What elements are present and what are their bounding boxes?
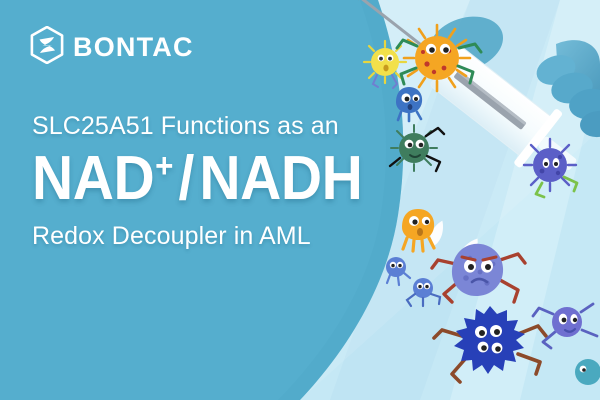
hero-title-line: SLC25A51 Functions as an: [32, 112, 362, 141]
hero-subtitle: Redox Decoupler in AML: [32, 222, 362, 251]
brand-logo[interactable]: BONTAC: [30, 26, 194, 69]
hero-headline: NAD+/NADH: [32, 147, 336, 210]
headline-nad-plus: NAD: [32, 144, 154, 213]
germ-purple-spiky: [524, 139, 577, 197]
germ-orange-octopus: [402, 209, 434, 251]
headline-superscript-plus: +: [155, 147, 173, 185]
promo-banner: BONTAC SLC25A51 Functions as an NAD+/NAD…: [0, 0, 600, 400]
headline-nadh: NADH: [199, 144, 362, 213]
hexagon-leaf-logo-icon: [30, 26, 64, 69]
headline-separator: /: [178, 144, 193, 213]
germ-blue-tiny-left: [386, 257, 410, 285]
germ-green-fuzzy: [390, 125, 444, 171]
germ-orange-large-spiky: [397, 25, 481, 91]
germ-blue-blob-small: [396, 87, 422, 121]
germ-yellow-spiky: [364, 41, 406, 88]
germ-blue-angry-large: [432, 244, 525, 302]
germ-blue-tiny-right: [407, 278, 440, 306]
germ-purple-running: [533, 304, 597, 348]
germ-teal-blob: [575, 359, 600, 385]
germ-navy-multi-eye: [434, 306, 546, 382]
hero-text-block: SLC25A51 Functions as an NAD+/NADH Redox…: [32, 112, 362, 251]
brand-name: BONTAC: [73, 32, 194, 63]
